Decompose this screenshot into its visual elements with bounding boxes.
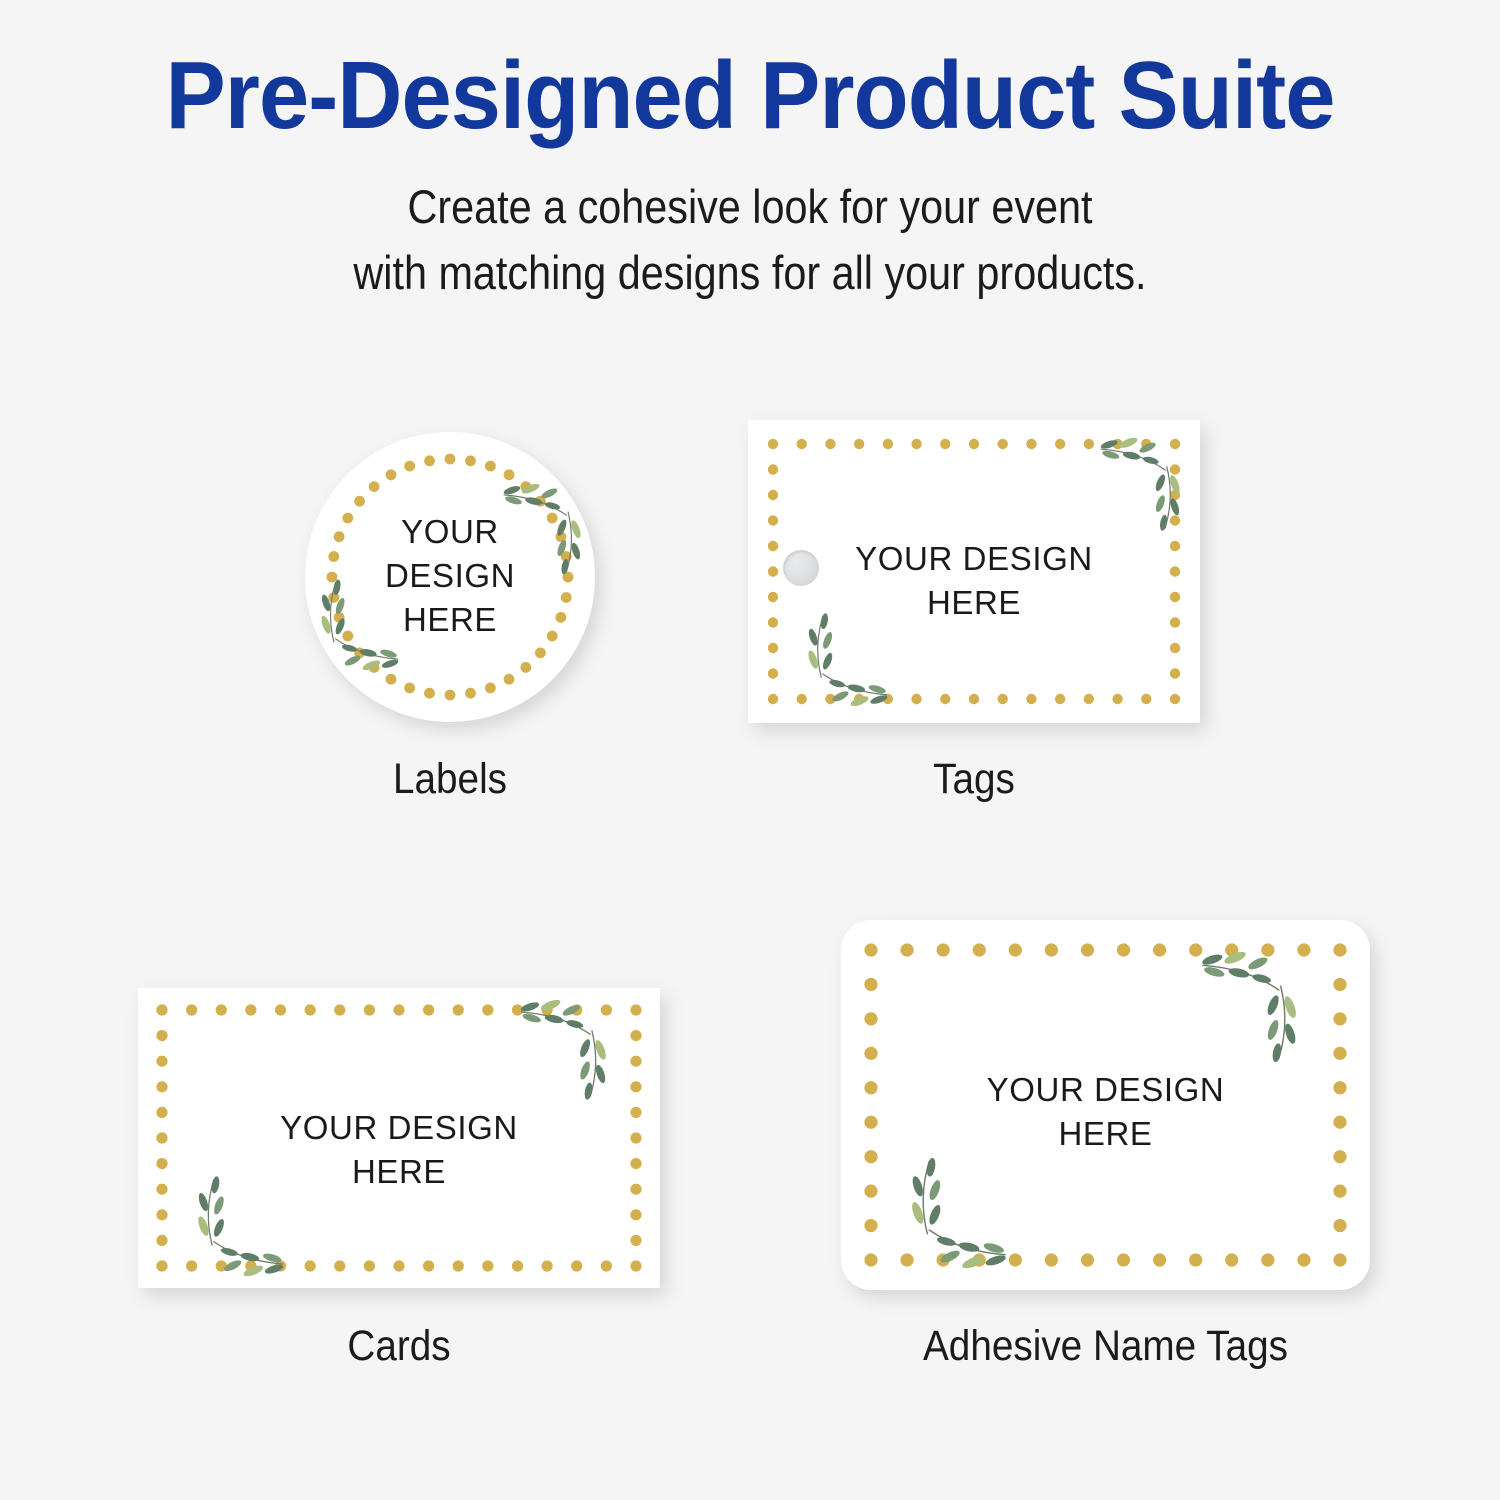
design-placeholder-text: YOUR DESIGN HERE bbox=[841, 1068, 1370, 1156]
product-adhesive-name-tags[interactable]: YOUR DESIGN HERE Adhesive Name Tags bbox=[0, 0, 1500, 1500]
product-caption-adhesive-name-tags: Adhesive Name Tags bbox=[867, 1322, 1343, 1371]
adhesive-name-tag-surface[interactable]: YOUR DESIGN HERE bbox=[841, 920, 1370, 1290]
